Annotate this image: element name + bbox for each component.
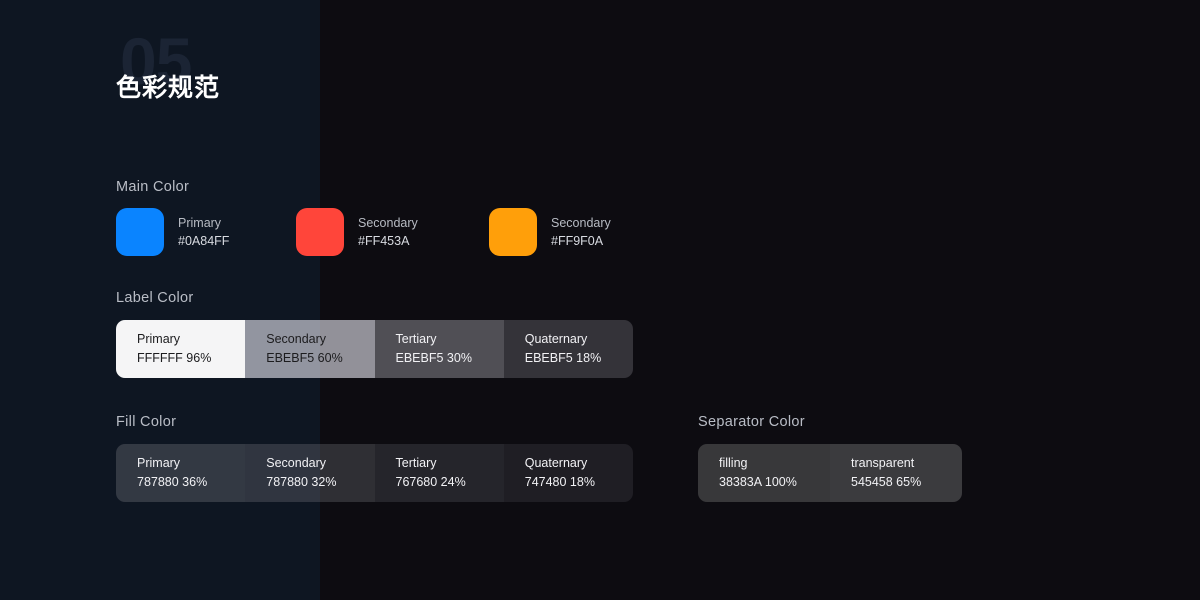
cell-value: EBEBF5 30% [396, 349, 504, 368]
section-heading-label-color: Label Color [116, 290, 193, 306]
cell-name: Quaternary [525, 330, 633, 349]
swatch-item[interactable]: Primary #0A84FF [116, 208, 296, 256]
cell-name: Primary [137, 330, 245, 349]
cell-name: Quaternary [525, 454, 633, 473]
color-cell[interactable]: Primary FFFFFF 96% [116, 320, 245, 378]
cell-name: Secondary [266, 330, 374, 349]
color-cell[interactable]: Primary 787880 36% [116, 444, 245, 502]
cell-name: Secondary [266, 454, 374, 473]
swatch-text: Primary #0A84FF [178, 214, 229, 250]
color-spec-page: 05 色彩规范 Main Color Primary #0A84FF Secon… [0, 0, 1200, 600]
swatch-hex: #0A84FF [178, 232, 229, 250]
cell-value: EBEBF5 18% [525, 349, 633, 368]
cell-name: transparent [851, 454, 962, 473]
color-cell[interactable]: Quaternary EBEBF5 18% [504, 320, 633, 378]
cell-value: 545458 65% [851, 473, 962, 492]
cell-value: 747480 18% [525, 473, 633, 492]
page-content: 05 色彩规范 Main Color Primary #0A84FF Secon… [0, 0, 1200, 600]
page-title: 色彩规范 [116, 68, 220, 104]
swatch-item[interactable]: Secondary #FF9F0A [489, 208, 611, 256]
color-cell[interactable]: Secondary EBEBF5 60% [245, 320, 374, 378]
color-chip[interactable] [116, 208, 164, 256]
main-color-swatch-row: Primary #0A84FF Secondary #FF453A Second… [116, 208, 611, 256]
color-cell[interactable]: filling 38383A 100% [698, 444, 830, 502]
cell-value: 767680 24% [396, 473, 504, 492]
swatch-name: Primary [178, 214, 229, 232]
cell-value: FFFFFF 96% [137, 349, 245, 368]
swatch-name: Secondary [551, 214, 611, 232]
cell-value: 38383A 100% [719, 473, 830, 492]
color-chip[interactable] [489, 208, 537, 256]
swatch-name: Secondary [358, 214, 418, 232]
color-chip[interactable] [296, 208, 344, 256]
section-heading-fill-color: Fill Color [116, 414, 176, 430]
color-cell[interactable]: Tertiary EBEBF5 30% [375, 320, 504, 378]
swatch-text: Secondary #FF453A [358, 214, 418, 250]
swatch-text: Secondary #FF9F0A [551, 214, 611, 250]
cell-value: 787880 32% [266, 473, 374, 492]
cell-value: EBEBF5 60% [266, 349, 374, 368]
color-cell[interactable]: Quaternary 747480 18% [504, 444, 633, 502]
swatch-hex: #FF453A [358, 232, 418, 250]
cell-value: 787880 36% [137, 473, 245, 492]
color-cell[interactable]: Tertiary 767680 24% [375, 444, 504, 502]
swatch-hex: #FF9F0A [551, 232, 611, 250]
color-cell[interactable]: Secondary 787880 32% [245, 444, 374, 502]
label-color-bar: Primary FFFFFF 96% Secondary EBEBF5 60% … [116, 320, 633, 378]
section-heading-separator-color: Separator Color [698, 414, 805, 430]
cell-name: Primary [137, 454, 245, 473]
fill-color-bar: Primary 787880 36% Secondary 787880 32% … [116, 444, 633, 502]
page-header: 05 色彩规范 [116, 24, 220, 104]
cell-name: Tertiary [396, 454, 504, 473]
color-cell[interactable]: transparent 545458 65% [830, 444, 962, 502]
cell-name: filling [719, 454, 830, 473]
cell-name: Tertiary [396, 330, 504, 349]
swatch-item[interactable]: Secondary #FF453A [296, 208, 489, 256]
section-heading-main-color: Main Color [116, 179, 189, 195]
separator-color-bar: filling 38383A 100% transparent 545458 6… [698, 444, 962, 502]
